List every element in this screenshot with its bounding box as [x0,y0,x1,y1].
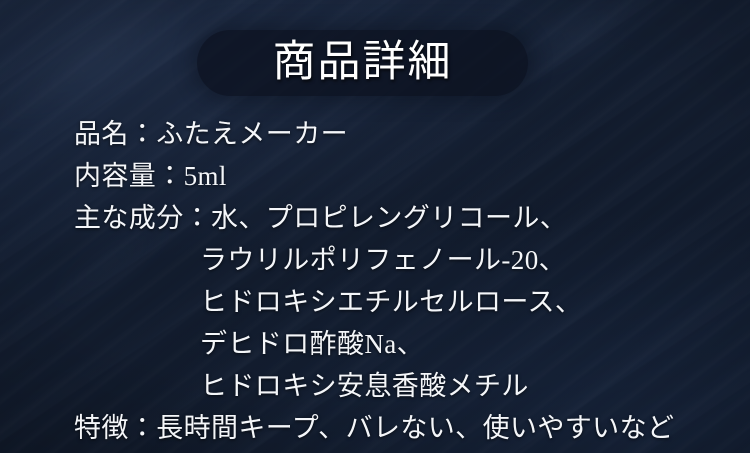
detail-line-ingredient-continued: ヒドロキシエチルセルロース、 [74,281,714,323]
page-title: 商品詳細 [273,41,453,86]
detail-line-product-name: 品名：ふたえメーカー [74,113,714,155]
product-detail-panel: 商品詳細 品名：ふたえメーカー 内容量：5ml 主な成分：水、プロピレングリコー… [0,0,750,453]
detail-line-ingredient-continued: ヒドロキシ安息香酸メチル [74,365,714,407]
detail-line-features: 特徴：長時間キープ、バレない、使いやすいなど [74,407,714,449]
detail-line-ingredient-continued: ラウリルポリフェノール-20、 [74,239,714,281]
detail-line-volume: 内容量：5ml [74,155,714,197]
detail-line-ingredients: 主な成分：水、プロピレングリコール、 [74,197,714,239]
detail-line-ingredient-continued: デヒドロ酢酸Na、 [74,323,714,365]
detail-list: 品名：ふたえメーカー 内容量：5ml 主な成分：水、プロピレングリコール、 ラウ… [74,113,714,449]
title-pill: 商品詳細 [197,30,528,96]
